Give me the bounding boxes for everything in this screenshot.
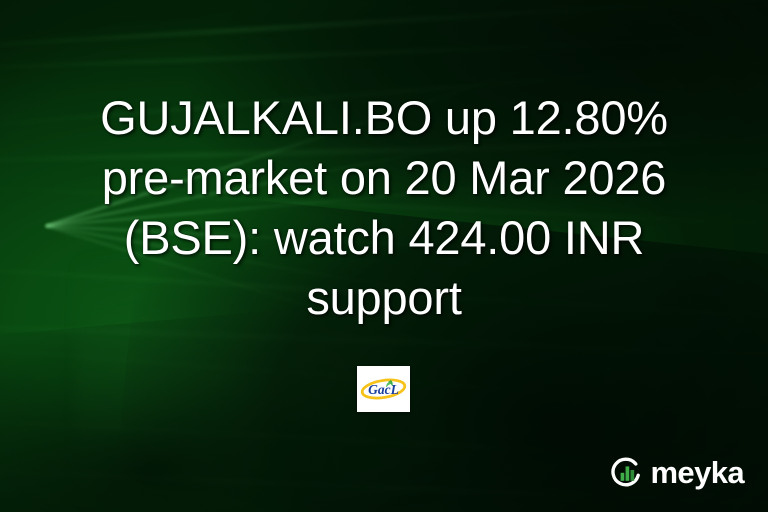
gacl-logo-icon: GacL	[360, 376, 407, 402]
svg-text:GacL: GacL	[368, 382, 399, 397]
headline-text: GUJALKALI.BO up 12.80% pre-market on 20 …	[0, 88, 768, 328]
company-logo-tile: GacL	[357, 366, 410, 412]
social-share-card: GUJALKALI.BO up 12.80% pre-market on 20 …	[0, 0, 768, 512]
brand-wordmark: meyka	[650, 457, 744, 488]
circle-bar-chart-icon	[611, 456, 643, 488]
brand-lockup: meyka	[611, 456, 744, 488]
